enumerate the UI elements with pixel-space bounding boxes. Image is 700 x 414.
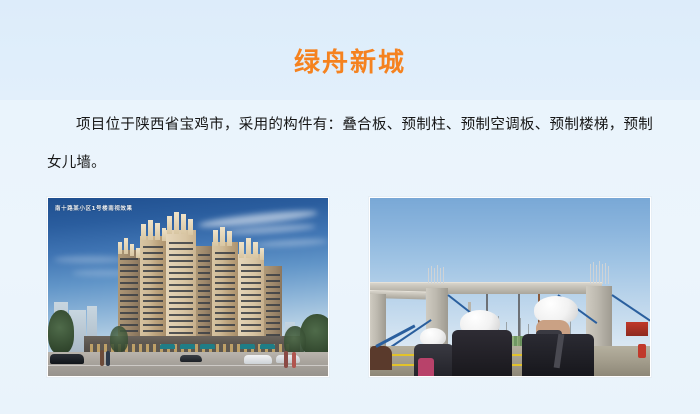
car xyxy=(276,355,300,363)
worker-arm xyxy=(370,346,392,370)
rebar-dowel xyxy=(443,267,444,284)
photo-caption-watermark: 南十路某小区1号楼南视效果 xyxy=(55,205,133,213)
tower-fin xyxy=(246,238,251,258)
car xyxy=(244,355,272,364)
rebar-dowel xyxy=(593,262,594,284)
pedestrian xyxy=(284,351,288,368)
rebar-dowel xyxy=(431,266,432,284)
awning xyxy=(260,344,275,349)
awning xyxy=(180,344,195,349)
car xyxy=(180,355,202,362)
tower-fin xyxy=(141,224,146,240)
tower-fin xyxy=(227,231,232,246)
tower-fin xyxy=(148,220,153,240)
rebar-dowel xyxy=(428,268,429,284)
tower-fin xyxy=(239,242,244,258)
rebar-dowel xyxy=(440,268,441,284)
photo-construction-site xyxy=(368,196,652,378)
window-band xyxy=(241,264,261,340)
window-band xyxy=(198,254,210,340)
worker-vest xyxy=(418,358,434,376)
window-band xyxy=(266,274,280,340)
tower-fin xyxy=(260,248,264,260)
rebar-dowel xyxy=(590,264,591,284)
pedestrian xyxy=(292,352,296,368)
awning xyxy=(240,344,255,349)
tower-fin xyxy=(174,212,179,234)
tower-fin xyxy=(155,223,160,240)
tower-fin xyxy=(130,244,134,256)
rebar-dowel xyxy=(608,266,609,284)
photo-left-inner: 南十路某小区1号楼南视效果 xyxy=(48,198,328,376)
tree xyxy=(110,326,128,352)
tower-fin xyxy=(220,227,225,246)
tower-fin xyxy=(253,242,258,258)
window-band xyxy=(143,246,163,338)
page-title: 绿舟新城 xyxy=(0,46,700,80)
pedestrian xyxy=(100,350,104,366)
rebar-dowel xyxy=(434,268,435,284)
body-paragraph: 项目位于陕西省宝鸡市，采用的构件有：叠合板、预制柱、预制空调板、预制楼梯，预制女… xyxy=(47,106,653,182)
pedestrian xyxy=(106,351,110,366)
car xyxy=(50,354,84,364)
red-equipment xyxy=(626,322,648,336)
tree xyxy=(48,310,74,354)
slide-canvas: 绿舟新城 项目位于陕西省宝鸡市，采用的构件有：叠合板、预制柱、预制空调板、预制楼… xyxy=(0,0,700,414)
rebar-dowel xyxy=(599,261,600,284)
rebar-dowel xyxy=(605,263,606,284)
tower-fin xyxy=(188,219,193,235)
tower-fin xyxy=(118,242,122,254)
red-tool xyxy=(638,344,646,358)
rebar-dowel xyxy=(596,265,597,284)
rebar-dowel xyxy=(437,265,438,284)
rebar-dowel xyxy=(602,264,603,284)
window-band xyxy=(215,252,235,340)
tower-fin xyxy=(181,214,186,234)
photo-row: 南十路某小区1号楼南视效果 xyxy=(0,196,700,386)
tower-fin xyxy=(213,230,218,246)
photo-residential-rendering: 南十路某小区1号楼南视效果 xyxy=(46,196,330,378)
worker-body xyxy=(452,330,512,376)
tower-fin xyxy=(124,238,128,254)
awning xyxy=(160,344,175,349)
photo-right-inner xyxy=(370,198,650,376)
tower-fin xyxy=(167,216,172,234)
awning xyxy=(200,344,215,349)
window-band xyxy=(169,242,193,340)
cloud-shape xyxy=(54,256,124,263)
